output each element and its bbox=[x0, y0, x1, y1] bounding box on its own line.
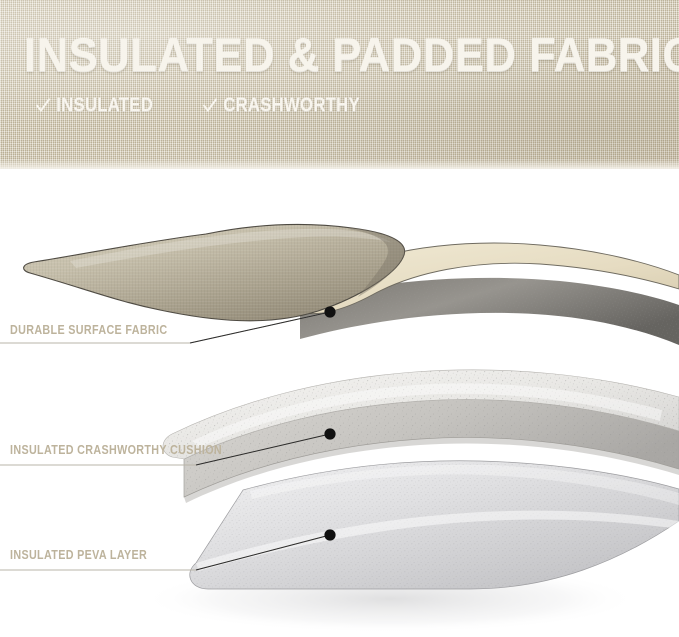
callout-label-surface-fabric: DURABLE SURFACE FABRIC bbox=[10, 323, 167, 337]
feature-item-insulated: INSULATED bbox=[36, 95, 153, 117]
fabric-banner: INSULATED & PADDED FABRICM INSULATED CRA… bbox=[0, 0, 679, 169]
banner-title: INSULATED & PADDED FABRICM bbox=[24, 28, 619, 82]
callout-label-foam-cushion: INSULATED CRASHWORTHY CUSHION bbox=[10, 443, 222, 457]
layer-diagram-svg bbox=[0, 169, 679, 637]
layer-cutaway-diagram bbox=[0, 169, 679, 637]
layer-peva-film bbox=[190, 461, 679, 589]
check-icon bbox=[36, 98, 50, 114]
banner-sheen-overlay bbox=[0, 0, 679, 169]
feature-label: CRASHWORTHY bbox=[223, 95, 360, 117]
check-icon bbox=[203, 98, 217, 114]
product-feature-infographic: INSULATED & PADDED FABRICM INSULATED CRA… bbox=[0, 0, 679, 637]
feature-item-crashworthy: CRASHWORTHY bbox=[203, 95, 360, 117]
callout-label-peva-layer: INSULATED PEVA LAYER bbox=[10, 548, 147, 562]
banner-bottom-fade bbox=[0, 159, 679, 169]
banner-feature-list: INSULATED CRASHWORTHY bbox=[36, 95, 381, 117]
feature-label: INSULATED bbox=[56, 95, 153, 117]
